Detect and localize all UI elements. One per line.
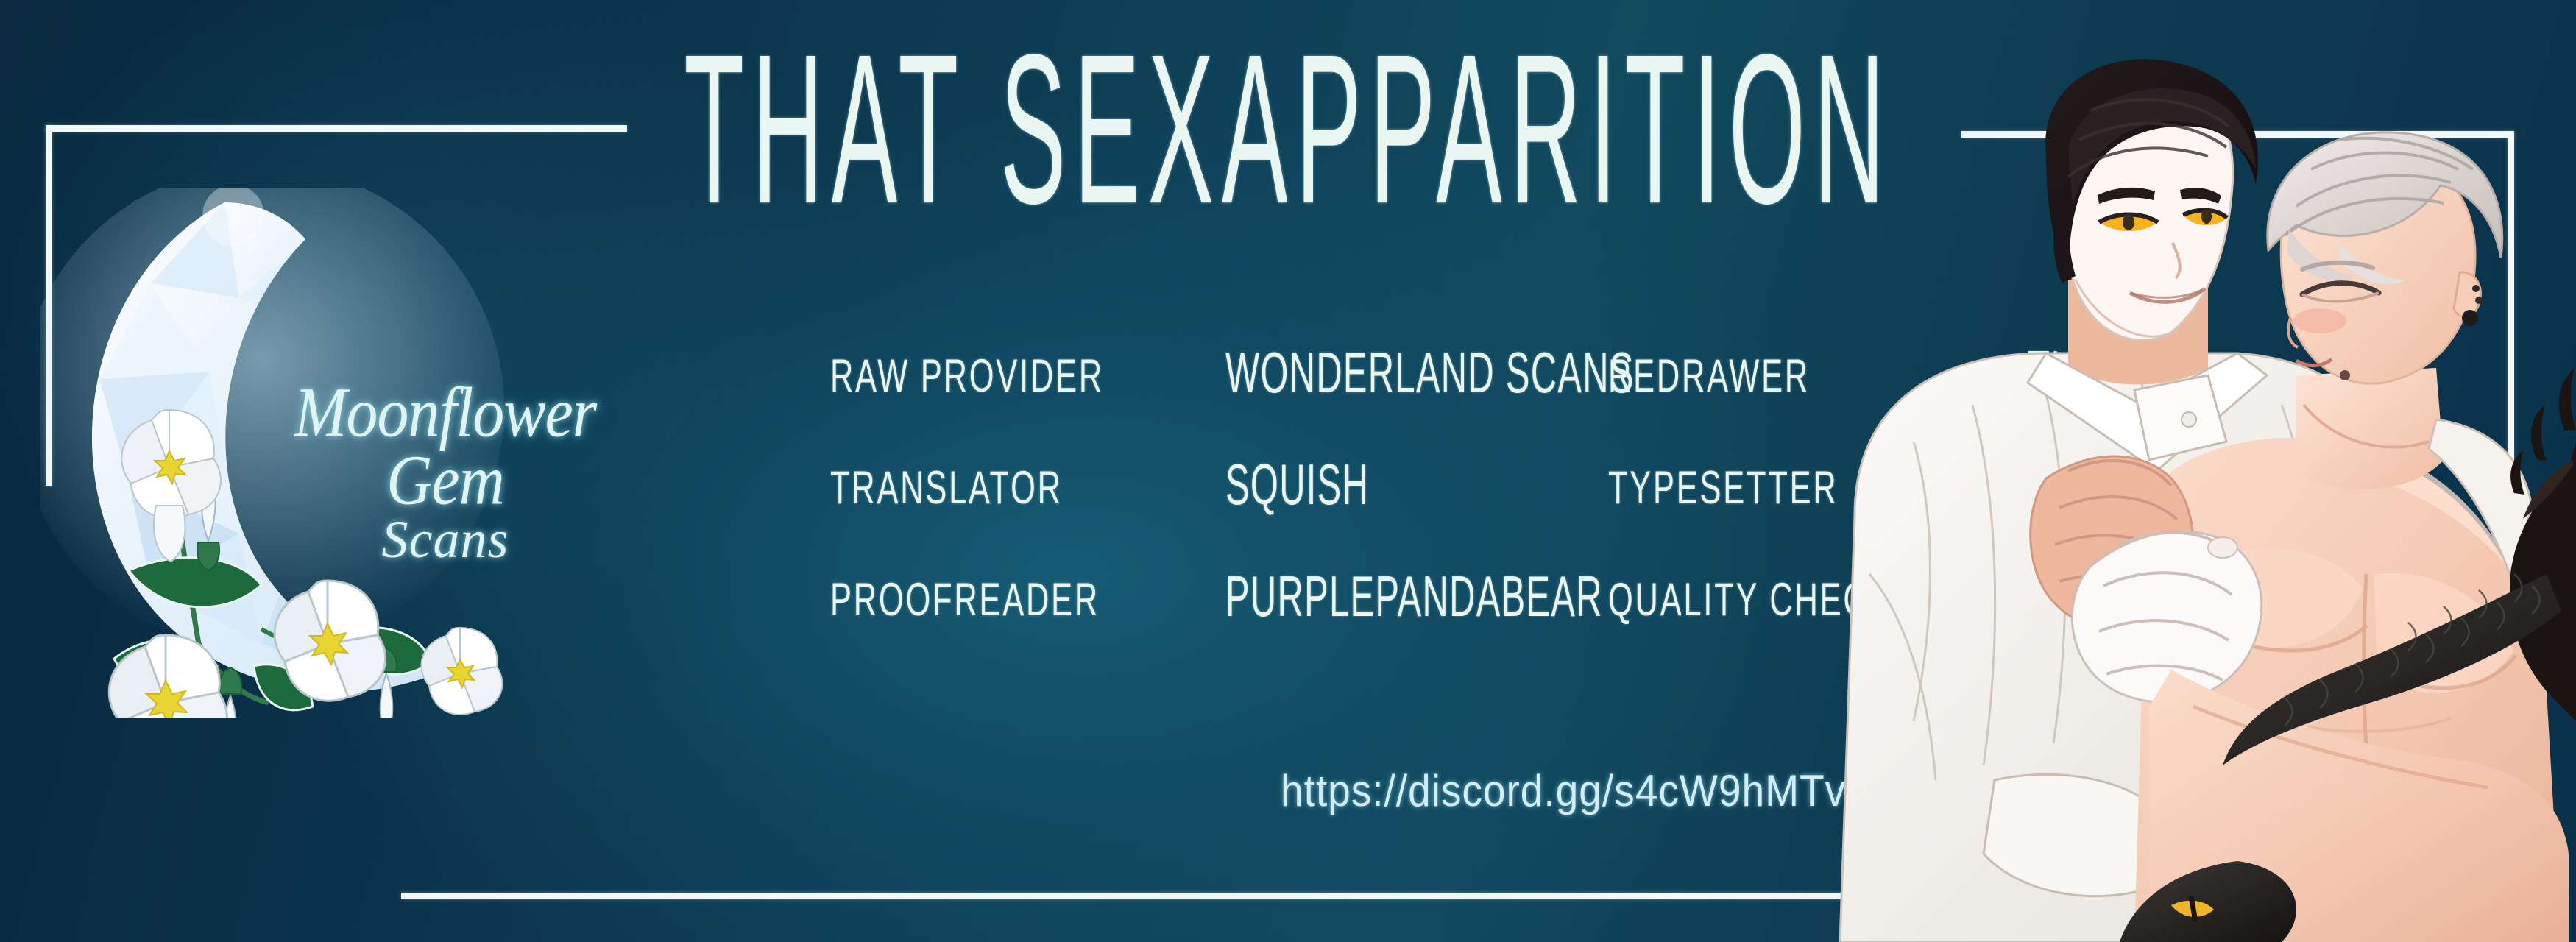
credit-label-redrawer: REDRAWER bbox=[1608, 353, 1810, 400]
character-artwork bbox=[1825, 59, 2576, 942]
logo-text: Moonflower Gem Scans bbox=[254, 386, 637, 573]
credit-value-proofreader: PURPLEPANDABEAR bbox=[1225, 568, 1603, 626]
credits-row: TRANSLATOR SQUISH TYPESETTER THRUST bbox=[817, 443, 1788, 555]
credit-label-translator: TRANSLATOR bbox=[830, 465, 1063, 511]
group-logo: Moonflower Gem Scans bbox=[40, 188, 681, 718]
credit-label-raw-provider: RAW PROVIDER bbox=[830, 353, 1104, 400]
credit-label-proofreader: PROOFREADER bbox=[830, 577, 1100, 623]
credit-value-raw-provider: WONDERLAND SCANS bbox=[1225, 344, 1635, 402]
credit-label-typesetter: TYPESETTER bbox=[1608, 465, 1839, 511]
logo-line-1: Moonflower Gem bbox=[254, 379, 637, 514]
credits-row: RAW PROVIDER WONDERLAND SCANS REDRAWER T… bbox=[817, 331, 1788, 443]
page-title: THAT SEXAPPARITION bbox=[684, 22, 1892, 235]
credits-page: THAT SEXAPPARITION bbox=[0, 0, 2576, 942]
credits-table: RAW PROVIDER WONDERLAND SCANS REDRAWER T… bbox=[817, 331, 1788, 667]
credit-value-translator: SQUISH bbox=[1225, 456, 1369, 514]
discord-link[interactable]: https://discord.gg/s4cW9hMTv3 bbox=[1281, 765, 1869, 816]
credits-row: PROOFREADER PURPLEPANDABEAR QUALITY CHEC… bbox=[817, 555, 1788, 667]
